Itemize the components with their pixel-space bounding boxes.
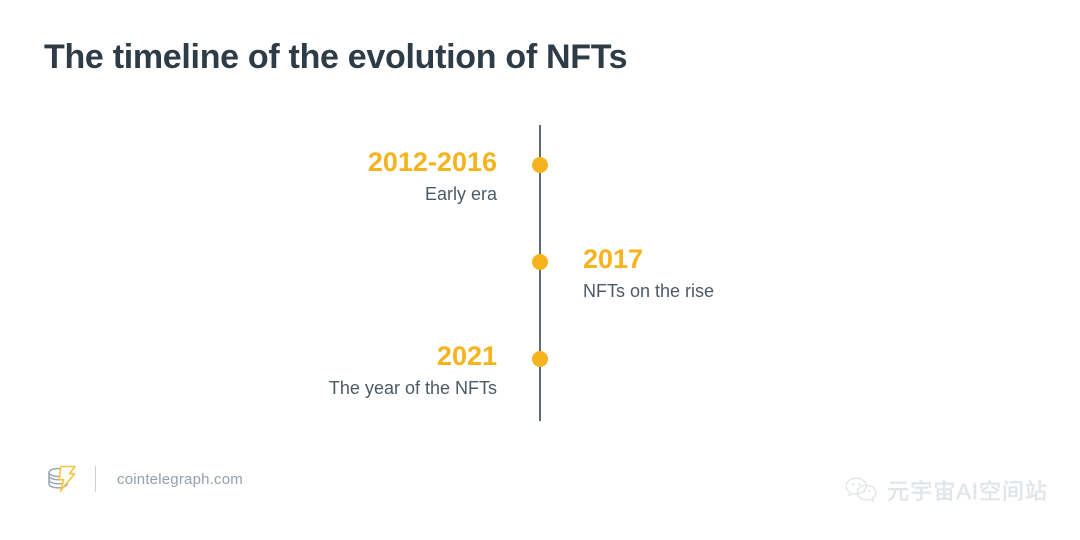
timeline-entry-year: 2012-2016 xyxy=(77,146,497,178)
coin-stack-lightning-icon xyxy=(44,462,78,496)
timeline-entry-label: Early era xyxy=(77,181,497,207)
footer-domain-label: cointelegraph.com xyxy=(117,471,243,488)
footer-branding: cointelegraph.com xyxy=(44,458,243,500)
wechat-watermark: 元宇宙AI空间站 xyxy=(844,474,1048,506)
wechat-icon xyxy=(844,476,887,504)
timeline-dot-marker xyxy=(532,157,548,173)
timeline-entry-year: 2017 xyxy=(583,243,1003,275)
wechat-watermark-label: 元宇宙AI空间站 xyxy=(887,474,1048,506)
timeline-dot-marker xyxy=(532,254,548,270)
timeline-entry-label: The year of the NFTs xyxy=(77,375,497,401)
timeline-entry: 2017 NFTs on the rise xyxy=(583,243,1003,304)
timeline-entry: 2012-2016 Early era xyxy=(77,146,497,207)
timeline-dot-marker xyxy=(532,351,548,367)
timeline-entry-label: NFTs on the rise xyxy=(583,278,1003,304)
timeline-entry: 2021 The year of the NFTs xyxy=(77,340,497,401)
timeline-entry-year: 2021 xyxy=(77,340,497,372)
footer-divider xyxy=(95,466,96,492)
